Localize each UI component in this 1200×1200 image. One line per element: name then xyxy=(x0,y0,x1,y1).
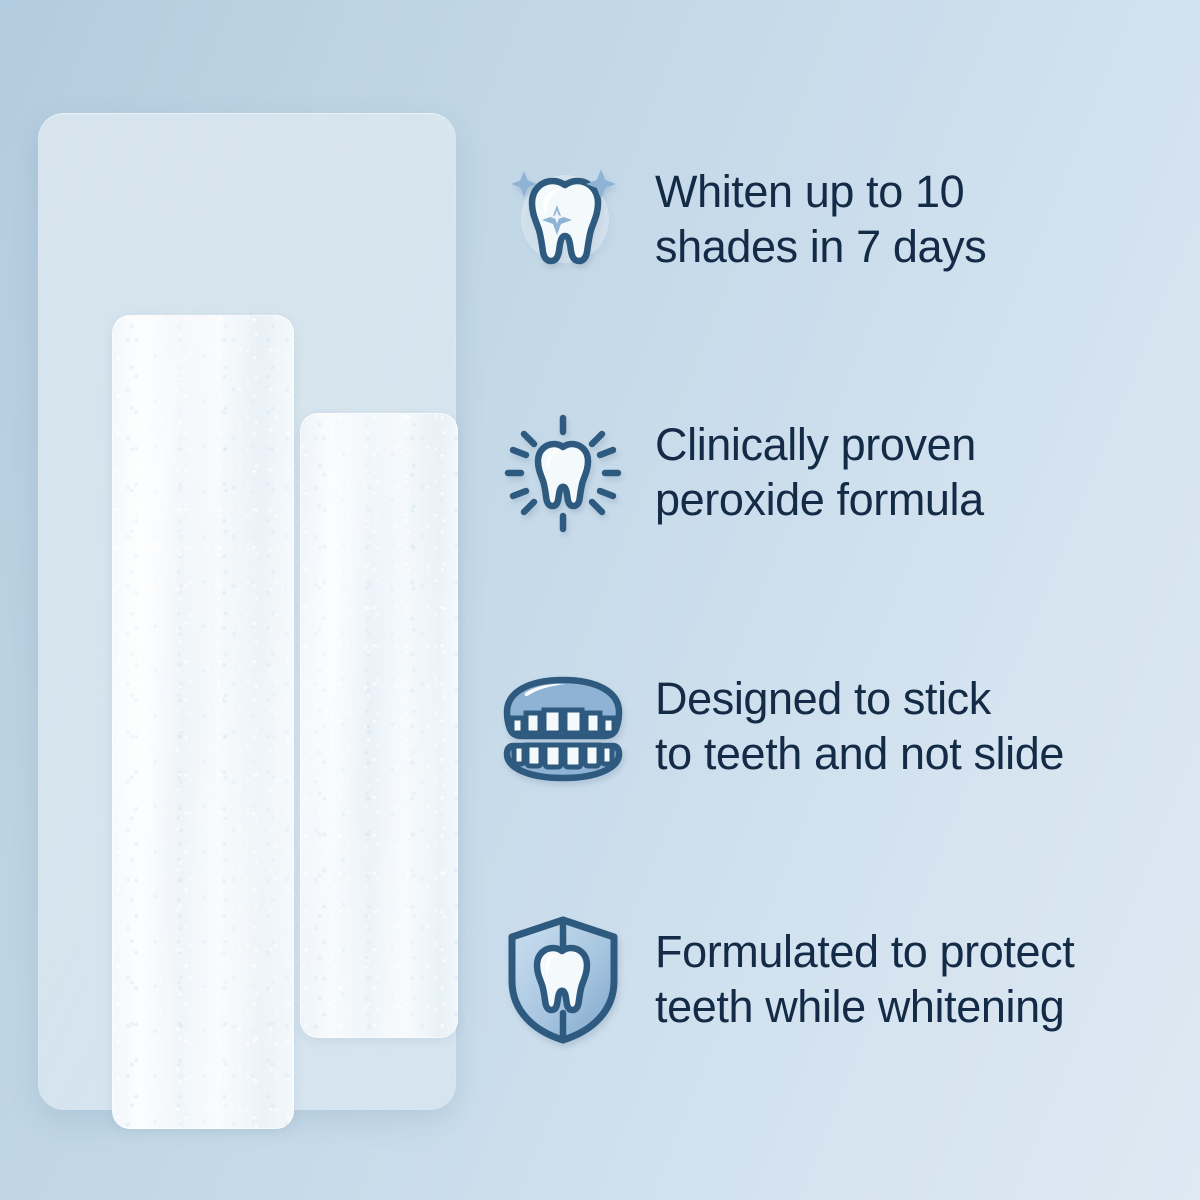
dentures-icon xyxy=(495,659,630,794)
product-image xyxy=(0,0,480,1200)
upper-whitening-strip xyxy=(112,315,294,1129)
backing-sheet xyxy=(38,113,456,1110)
feature-item-protect-teeth: Formulated to protect teeth while whiten… xyxy=(495,910,1185,1050)
feature-item-designed-to-stick: Designed to stick to teeth and not slide xyxy=(495,657,1185,797)
feature-item-whiten-shades: Whiten up to 10 shades in 7 days xyxy=(495,150,1185,290)
feature-label: Clinically proven peroxide formula xyxy=(630,418,1185,528)
lower-whitening-strip xyxy=(300,413,458,1038)
feature-list: Whiten up to 10 shades in 7 days xyxy=(495,150,1185,1050)
product-feature-infographic: Whiten up to 10 shades in 7 days xyxy=(0,0,1200,1200)
shield-tooth-icon xyxy=(495,912,630,1047)
feature-label: Formulated to protect teeth while whiten… xyxy=(630,925,1185,1035)
sparkling-tooth-icon xyxy=(495,153,630,288)
feature-item-clinically-proven: Clinically proven peroxide formula xyxy=(495,403,1185,543)
feature-label: Designed to stick to teeth and not slide xyxy=(630,672,1185,782)
shining-tooth-icon xyxy=(495,406,630,541)
feature-label: Whiten up to 10 shades in 7 days xyxy=(630,165,1185,275)
